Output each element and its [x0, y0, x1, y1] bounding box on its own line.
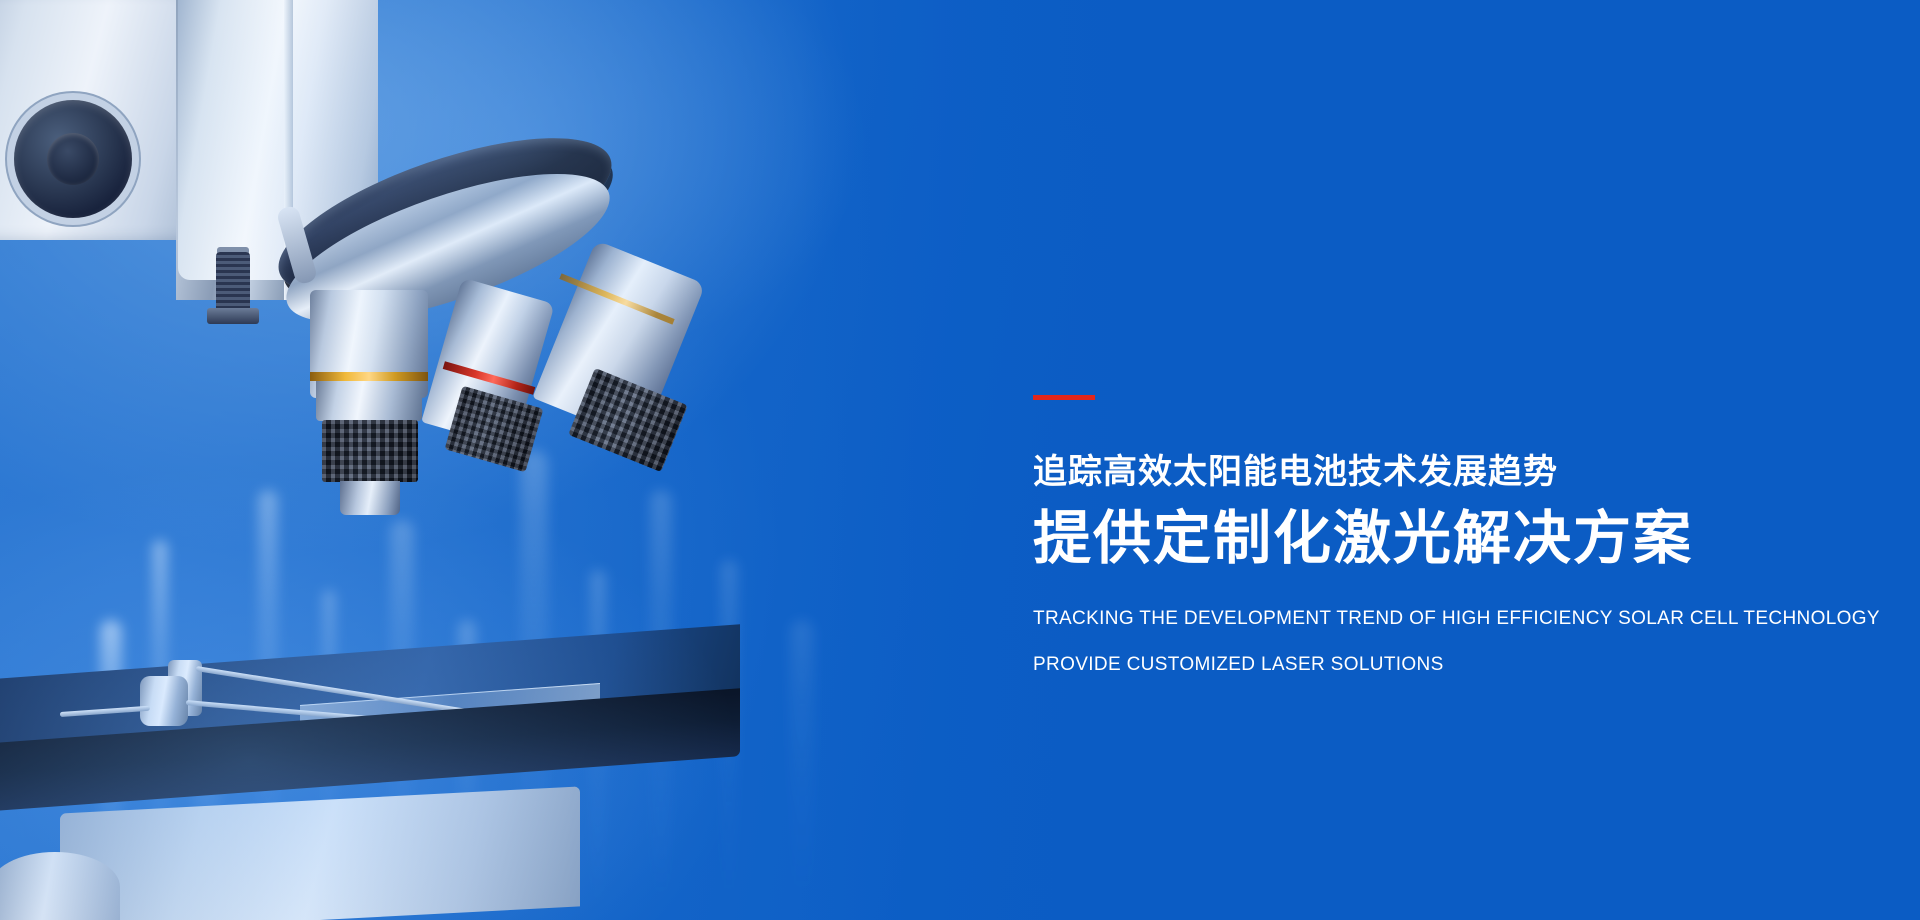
headline-chinese-small: 追踪高效太阳能电池技术发展趋势 [1033, 452, 1873, 493]
stage-clip-post-short [140, 676, 188, 726]
objective-lens-front-tip [340, 481, 400, 515]
headline-chinese-large: 提供定制化激光解决方案 [1033, 505, 1873, 573]
microscope-adjust-screw [216, 252, 250, 312]
hero-text-block: 追踪高效太阳能电池技术发展趋势 提供定制化激光解决方案 TRACKING THE… [1033, 395, 1873, 680]
subtitle-english-line-1: TRACKING THE DEVELOPMENT TREND OF HIGH E… [1033, 604, 1873, 633]
microscope-base-foot [0, 852, 120, 920]
objective-lens-middle-knurl [445, 386, 544, 473]
objective-lens-front-knurl [322, 420, 418, 482]
subtitle-english-line-2: PROVIDE CUSTOMIZED LASER SOLUTIONS [1033, 650, 1873, 679]
microscope-focus-knob [14, 100, 132, 218]
hero-banner: 追踪高效太阳能电池技术发展趋势 提供定制化激光解决方案 TRACKING THE… [0, 0, 1920, 920]
microscope-base [60, 786, 580, 920]
accent-rule [1033, 395, 1095, 400]
objective-lens-front-barrel [316, 381, 422, 421]
microscope-illustration [0, 0, 900, 920]
objective-lens-front-yellow-band [310, 372, 428, 381]
